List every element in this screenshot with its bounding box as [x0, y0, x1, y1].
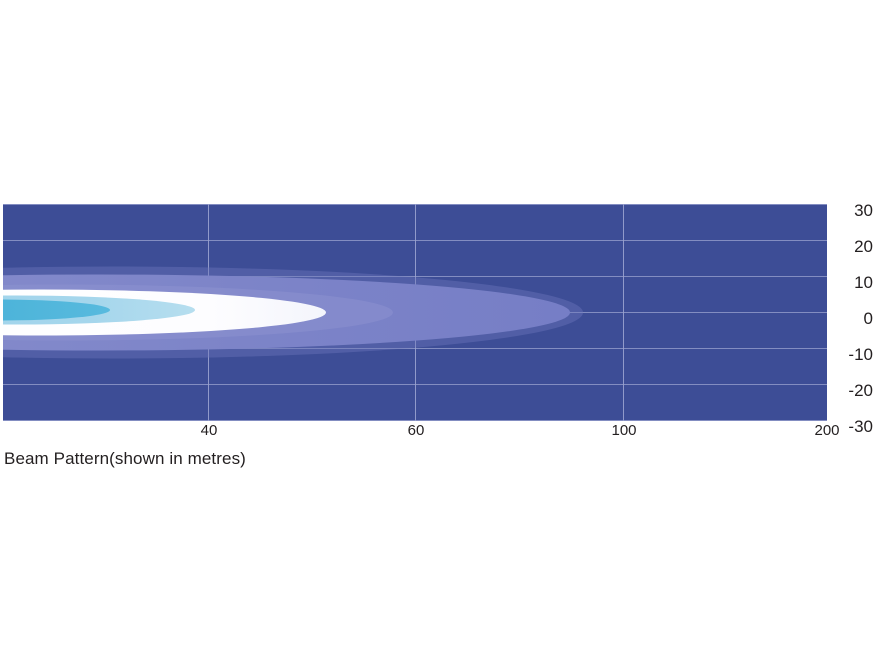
x-axis: 40 60 100 200 [0, 423, 881, 447]
y-tick-10: 10 [854, 274, 873, 291]
x-tick-100: 100 [611, 423, 636, 438]
y-tick-n10: -10 [848, 346, 873, 363]
beam-pattern-chart: 30 20 10 0 -10 -20 -30 40 60 100 200 Bea… [0, 0, 881, 664]
y-tick-n20: -20 [848, 382, 873, 399]
chart-caption: Beam Pattern(shown in metres) [4, 449, 246, 469]
chart-plot-area [3, 204, 827, 421]
y-axis: 30 20 10 0 -10 -20 -30 [836, 194, 881, 434]
y-tick-20: 20 [854, 238, 873, 255]
x-tick-60: 60 [408, 423, 425, 438]
beam-cone-icon [3, 204, 827, 421]
y-tick-0: 0 [864, 310, 873, 327]
x-tick-200: 200 [814, 423, 839, 438]
x-tick-40: 40 [201, 423, 218, 438]
y-tick-30: 30 [854, 202, 873, 219]
